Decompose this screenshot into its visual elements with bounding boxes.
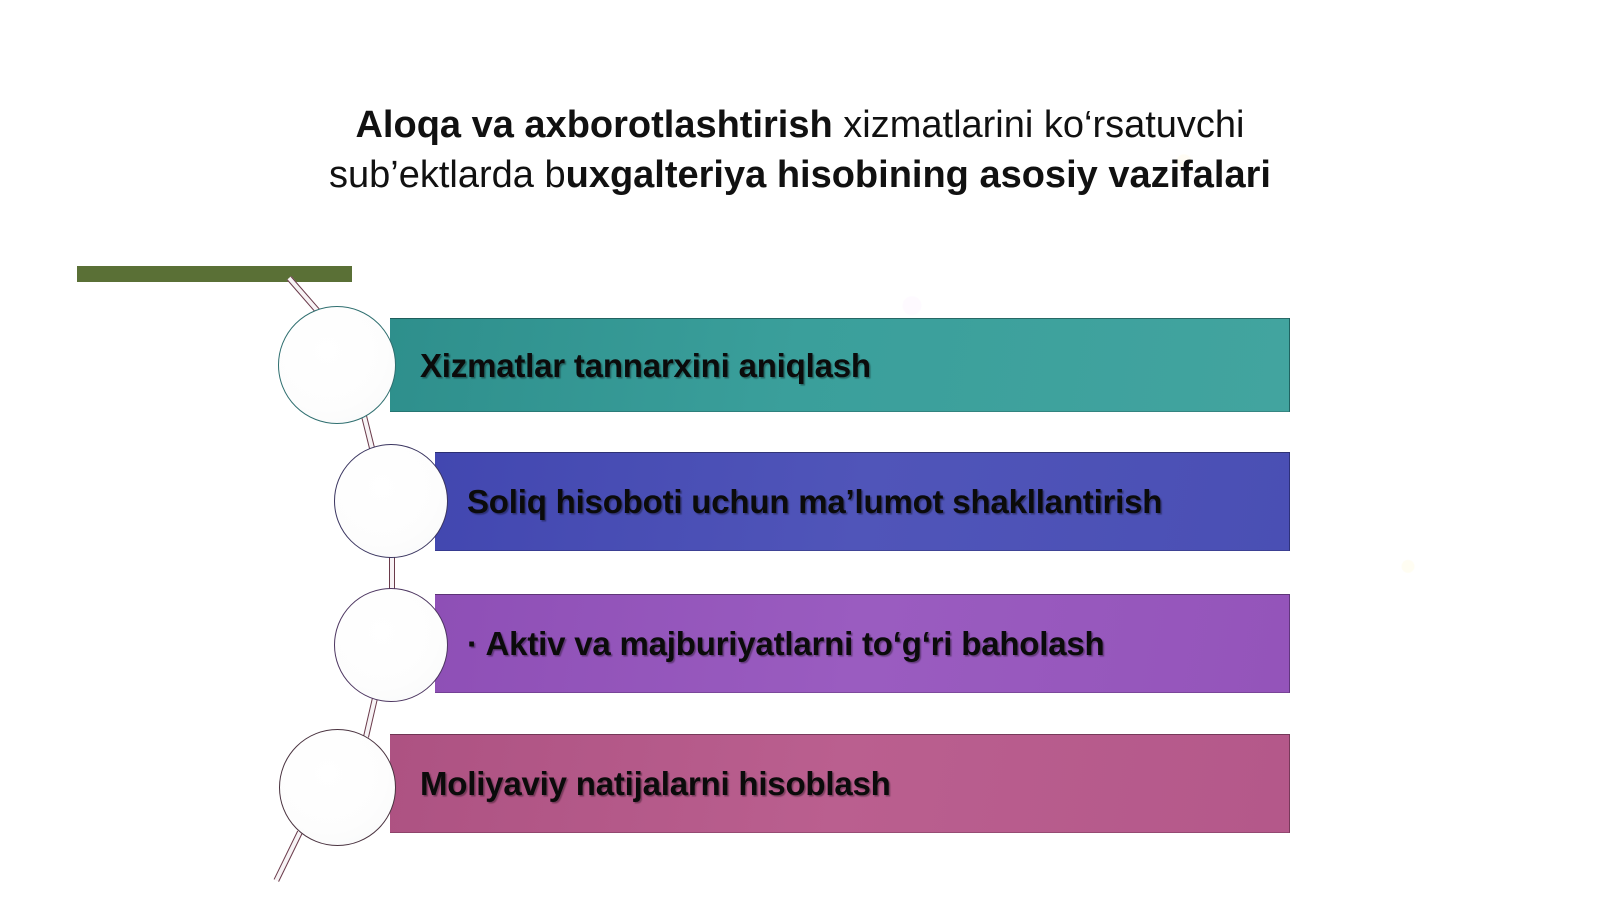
list-item[interactable]: · Aktiv va majburiyatlarni to‘g‘ri bahol… (435, 594, 1290, 693)
list-item[interactable]: Moliyaviy natijalarni hisoblash (390, 734, 1290, 833)
title-line1-regular: xizmatlarini ko‘rsatuvchi (833, 104, 1245, 146)
list-item[interactable]: Xizmatlar tannarxini aniqlash (390, 318, 1290, 412)
connector-node-3-to-node-4 (363, 697, 378, 737)
title-line1-bold: Aloqa va axborotlashtirish (355, 104, 832, 146)
list-item-label: Soliq hisoboti uchun ma’lumot shakllanti… (467, 481, 1162, 522)
page-title: Aloqa va axborotlashtirish xizmatlarini … (100, 100, 1500, 200)
node-circle-1[interactable] (278, 306, 396, 424)
node-circle-4[interactable] (279, 729, 396, 846)
accent-bar (77, 266, 352, 282)
list-item-label: Moliyaviy natijalarni hisoblash (420, 763, 891, 804)
connector-node-2-to-node-3 (389, 556, 395, 590)
slide-canvas: Aloqa va axborotlashtirish xizmatlarini … (0, 0, 1600, 899)
node-circle-3[interactable] (334, 588, 448, 702)
title-line2-regular: sub’ektlarda b (329, 154, 566, 196)
list-item[interactable]: Soliq hisoboti uchun ma’lumot shakllanti… (435, 452, 1290, 551)
list-item-label: Xizmatlar tannarxini aniqlash (420, 345, 871, 386)
title-line2-bold: uxgalteriya hisobining asosiy vazifalari (566, 154, 1271, 196)
connector-node-4-tail (274, 831, 303, 882)
list-item-label: · Aktiv va majburiyatlarni to‘g‘ri bahol… (467, 623, 1105, 664)
node-circle-2[interactable] (334, 444, 448, 558)
